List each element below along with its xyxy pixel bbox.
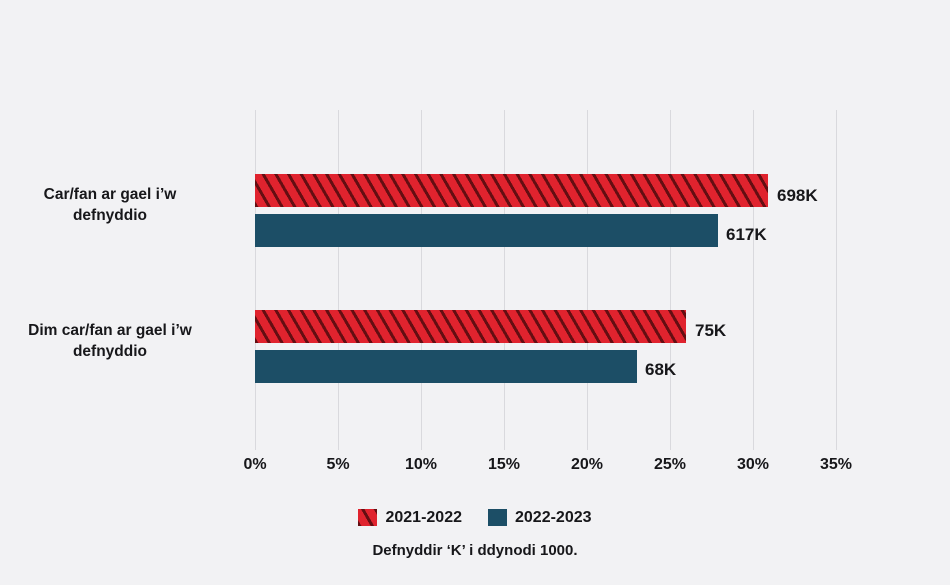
bar-value-617k: 617K	[726, 226, 767, 243]
gridline-5	[338, 110, 339, 450]
gridline-35	[836, 110, 837, 450]
category-label-1: Car/fan ar gael i’w defnyddio	[0, 185, 220, 227]
chart-footnote: Defnyddir ‘K’ i ddynodi 1000.	[0, 542, 950, 559]
xtick-20: 20%	[571, 456, 603, 474]
gridline-20	[587, 110, 588, 450]
legend-label-2022-2023: 2022-2023	[515, 510, 592, 526]
legend: 2021-2022 2022-2023	[0, 509, 950, 526]
category-label-1-line2: defnyddio	[0, 206, 220, 227]
category-label-2-line1: Dim car/fan ar gael i’w	[0, 321, 220, 342]
xtick-35: 35%	[820, 456, 852, 474]
xtick-5: 5%	[326, 456, 349, 474]
gridline-10	[421, 110, 422, 450]
xtick-0: 0%	[243, 456, 266, 474]
gridline-15	[504, 110, 505, 450]
bar-2021-2022-no-car-available[interactable]	[255, 310, 686, 343]
category-label-1-line1: Car/fan ar gael i’w	[0, 185, 220, 206]
bar-chart: Car/fan ar gael i’w defnyddio Dim car/fa…	[0, 0, 950, 585]
legend-item-2022-2023[interactable]: 2022-2023	[488, 509, 592, 526]
gridline-25	[670, 110, 671, 450]
legend-swatch-2022-2023	[488, 509, 507, 526]
gridline-30	[753, 110, 754, 450]
bar-value-68k: 68K	[645, 361, 676, 378]
bar-value-698k: 698K	[777, 187, 818, 204]
plot-area	[255, 110, 836, 450]
legend-label-2021-2022: 2021-2022	[385, 510, 462, 526]
legend-item-2021-2022[interactable]: 2021-2022	[358, 509, 462, 526]
xtick-30: 30%	[737, 456, 769, 474]
xtick-25: 25%	[654, 456, 686, 474]
bar-2022-2023-car-available[interactable]	[255, 214, 718, 247]
xtick-10: 10%	[405, 456, 437, 474]
gridline-0	[255, 110, 256, 450]
category-label-2-line2: defnyddio	[0, 342, 220, 363]
category-label-2: Dim car/fan ar gael i’w defnyddio	[0, 321, 220, 363]
legend-swatch-2021-2022	[358, 509, 377, 526]
bar-value-75k: 75K	[695, 322, 726, 339]
xtick-15: 15%	[488, 456, 520, 474]
bar-2022-2023-no-car-available[interactable]	[255, 350, 637, 383]
bar-2021-2022-car-available[interactable]	[255, 174, 768, 207]
